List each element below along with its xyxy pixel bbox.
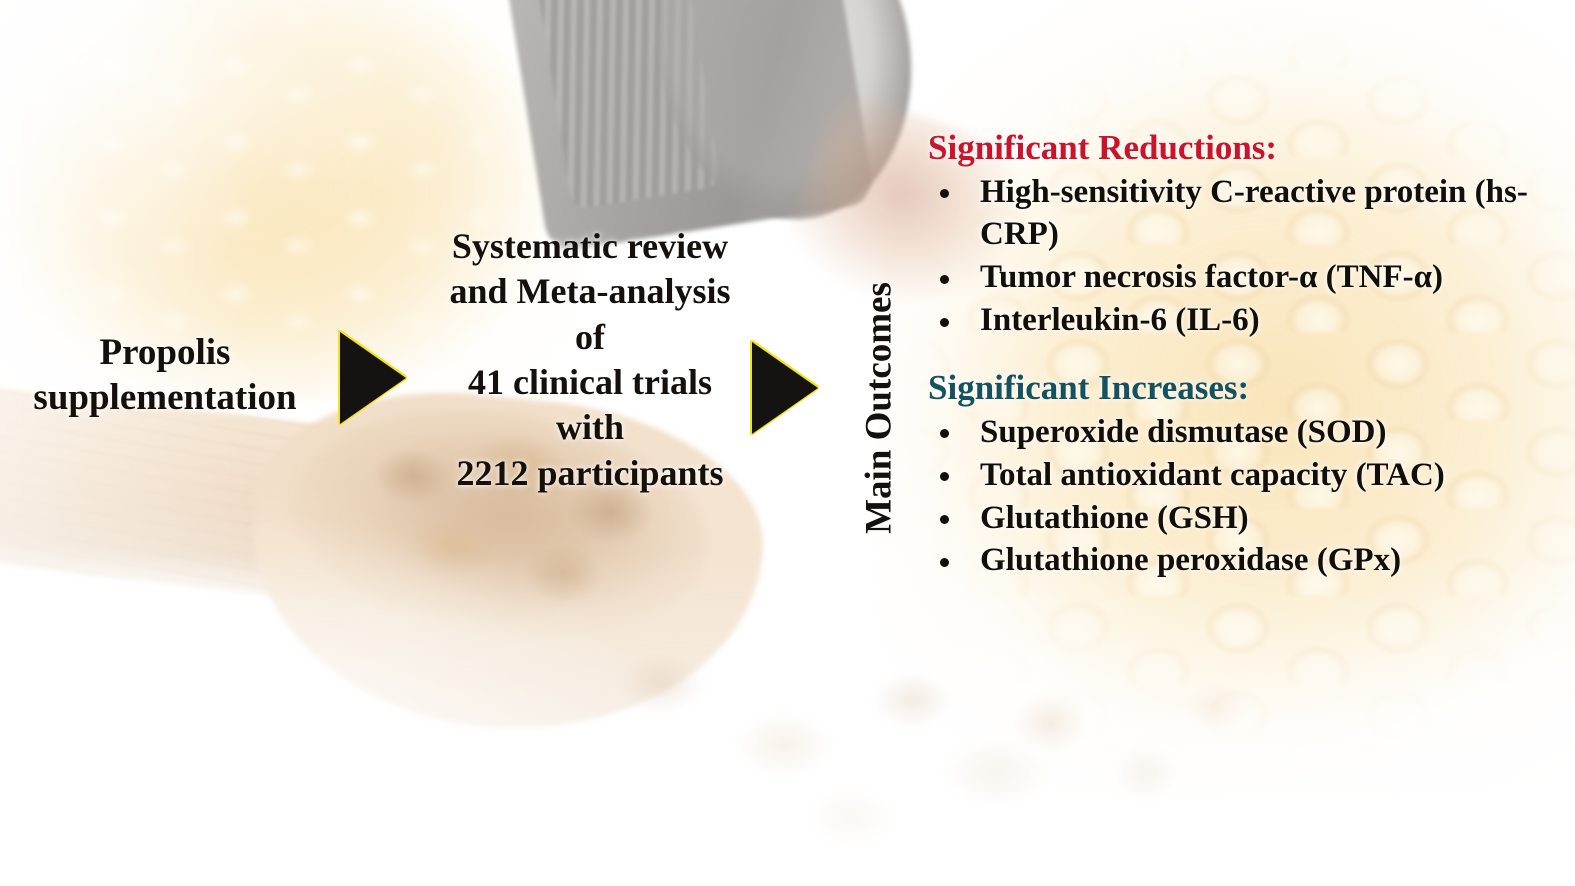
arrow-right-icon-2 <box>752 342 818 434</box>
list-item-label: Glutathione peroxidase (GPx) <box>980 542 1401 578</box>
bullet-icon <box>940 558 949 567</box>
list-item-label: High-sensitivity C-reactive protein (hs-… <box>980 174 1528 253</box>
supplement-bottle-rim <box>636 0 935 238</box>
supplement-bottle-cap <box>521 0 721 210</box>
propolis-granules-right <box>980 640 1300 850</box>
list-item: Total antioxidant capacity (TAC) <box>928 454 1573 497</box>
stage-study-line-1: Systematic review <box>395 224 785 269</box>
main-outcomes-label: Main Outcomes <box>858 282 901 534</box>
list-item-label: Tumor necrosis factor-α (TNF-α) <box>980 259 1443 295</box>
graphical-abstract: Propolis supplementation Systematic revi… <box>0 0 1575 886</box>
outcome-group-reductions: Significant Reductions: High-sensitivity… <box>928 128 1573 342</box>
bullet-icon <box>940 275 949 284</box>
outcome-group-increases: Significant Increases: Superoxide dismut… <box>928 368 1573 582</box>
bullet-icon <box>940 472 949 481</box>
increases-list: Superoxide dismutase (SOD) Total antioxi… <box>928 411 1573 583</box>
list-item-label: Interleukin-6 (IL-6) <box>980 302 1260 338</box>
stage-propolis-line-1: Propolis <box>0 330 330 375</box>
significant-increases-heading: Significant Increases: <box>928 368 1573 409</box>
list-item: Glutathione peroxidase (GPx) <box>928 539 1573 582</box>
list-item: Glutathione (GSH) <box>928 497 1573 540</box>
stage-study-line-2: and Meta-analysis <box>395 269 785 314</box>
list-item-label: Glutathione (GSH) <box>980 500 1249 536</box>
stage-propolis-supplementation: Propolis supplementation <box>0 330 330 420</box>
stage-propolis-line-2: supplementation <box>0 375 330 420</box>
supplement-bottle-body <box>495 0 876 254</box>
reductions-list: High-sensitivity C-reactive protein (hs-… <box>928 171 1573 343</box>
stage-study-description: Systematic review and Meta-analysis of 4… <box>395 224 785 496</box>
stage-study-line-5: with <box>395 405 785 450</box>
bullet-icon <box>940 318 949 327</box>
list-item: High-sensitivity C-reactive protein (hs-… <box>928 171 1573 257</box>
main-outcomes-label-wrap: Main Outcomes <box>846 238 912 578</box>
list-item: Tumor necrosis factor-α (TNF-α) <box>928 256 1573 299</box>
outcomes-panel: Significant Reductions: High-sensitivity… <box>928 128 1573 582</box>
list-item-label: Superoxide dismutase (SOD) <box>980 414 1386 450</box>
bullet-icon <box>940 189 949 198</box>
bullet-icon <box>940 429 949 438</box>
list-item-label: Total antioxidant capacity (TAC) <box>980 457 1445 493</box>
stage-study-line-3: of <box>395 315 785 360</box>
stage-study-line-4: 41 clinical trials <box>395 360 785 405</box>
significant-reductions-heading: Significant Reductions: <box>928 128 1573 169</box>
propolis-granules-spill <box>560 600 1120 880</box>
list-item: Superoxide dismutase (SOD) <box>928 411 1573 454</box>
list-item: Interleukin-6 (IL-6) <box>928 299 1573 342</box>
bullet-icon <box>940 515 949 524</box>
stage-study-line-6: 2212 participants <box>395 451 785 496</box>
